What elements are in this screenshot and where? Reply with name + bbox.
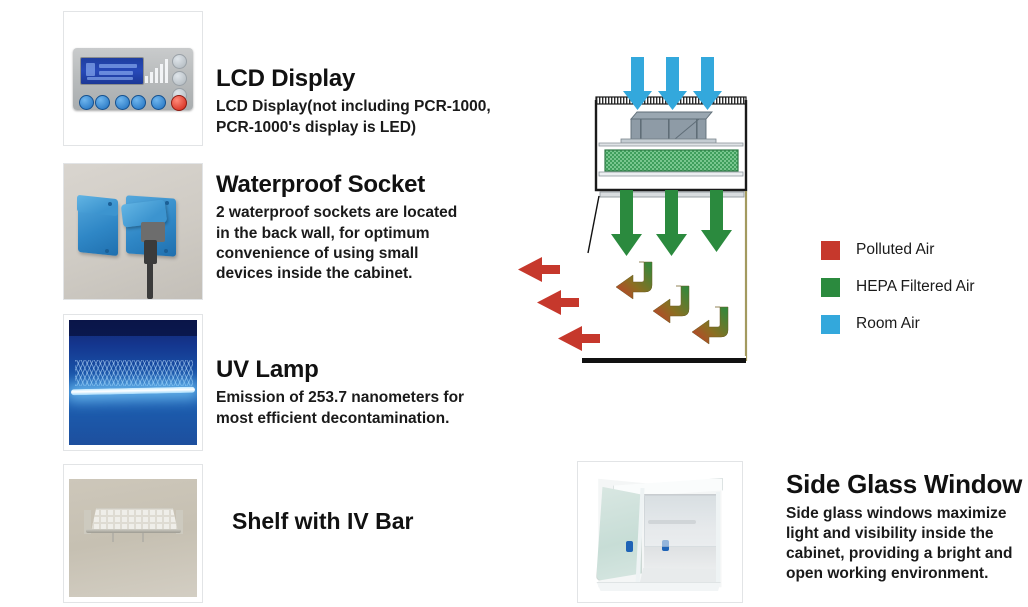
lcd-control-panel-photo [64,12,202,145]
hepa-downflow-arrows [611,190,732,256]
side-glass-window-feature-text: Side Glass Window Side glass windows max… [786,471,1026,584]
room-air-swatch-icon [821,315,840,334]
lcd-display-title: LCD Display [216,66,516,91]
side-glass-window-body: Side glass windows maximize light and vi… [786,504,1026,585]
uv-tube [71,387,195,396]
contaminated-return-arrows [616,262,728,344]
lcd-button-up-arrow[interactable] [115,95,130,110]
waterproof-socket-body-line-2: in the back wall, for optimum [216,224,516,244]
polluted-air-swatch-icon [821,241,840,260]
plenum-divider-lower [599,172,743,176]
lcd-display-body-line-1: LCD Display(not including PCR-1000, [216,97,516,117]
waterproof-socket-body-line-1: 2 waterproof sockets are located [216,203,516,223]
lcd-display-body: LCD Display(not including PCR-1000, PCR-… [216,97,516,137]
lcd-button-down-arrow[interactable] [131,95,146,110]
waterproof-socket-photo [64,164,202,299]
side-glass-window-panel [596,485,642,581]
front-sash-glass [644,495,720,547]
lcd-button-power[interactable] [171,95,187,111]
waterproof-socket-body: 2 waterproof sockets are located in the … [216,203,516,284]
waterproof-socket-feature-text: Waterproof Socket 2 waterproof sockets a… [216,172,516,284]
uv-lamp-photo [64,315,202,450]
lcd-button-up-right[interactable] [172,54,187,69]
side-glass-window-body-line-3: cabinet, providing a bright and [786,544,1026,564]
side-glass-window-title: Side Glass Window [786,471,1026,499]
side-glass-window-body-line-2: light and visibility inside the [786,524,1026,544]
work-surface [582,358,746,363]
legend-item-hepa-filtered-air: HEPA Filtered Air [821,272,975,302]
iv-hook-right [142,533,144,542]
airflow-legend: Polluted Air HEPA Filtered Air Room Air [821,235,975,346]
uv-lamp-photo-frame [63,314,203,451]
signal-strength-icon [145,58,167,83]
side-glass-window-body-line-4: open working environment. [786,564,1026,584]
power-cable-lower [147,262,153,299]
power-plug [141,222,165,242]
uv-lamp-body-line-2: most efficient decontamination. [216,409,516,429]
blower-motor [621,112,716,143]
waterproof-socket-body-line-4: devices inside the cabinet. [216,264,516,284]
lcd-button-mid-right[interactable] [172,71,187,86]
legend-label-hepa-filtered-air: HEPA Filtered Air [856,278,975,296]
uv-lamp-title: UV Lamp [216,357,516,382]
shelf-iv-bar-title: Shelf with IV Bar [232,508,413,535]
legend-item-room-air: Room Air [821,309,975,339]
legend-item-polluted-air: Polluted Air [821,235,975,265]
hepa-filter [605,150,738,171]
biosafety-cabinet-airflow-cross-section [500,50,790,370]
lcd-button-left-arrow[interactable] [79,95,94,110]
legend-label-polluted-air: Polluted Air [856,241,934,259]
work-surface-deck [640,568,720,582]
iv-bar [86,529,181,533]
lcd-display-body-line-2: PCR-1000's display is LED) [216,118,516,138]
waterproof-socket-photo-frame [63,163,203,300]
waterproof-socket-body-line-3: convenience of using small [216,244,516,264]
lcd-button-right-arrow[interactable] [95,95,110,110]
sash-pointer-line [588,196,599,253]
uv-lamp-body: Emission of 253.7 nanometers for most ef… [216,388,516,428]
lcd-display-feature-text: LCD Display LCD Display(not including PC… [216,66,516,138]
iv-hook-left [112,533,114,542]
side-glass-window-body-line-1: Side glass windows maximize [786,504,1026,524]
legend-label-room-air: Room Air [856,315,920,333]
polluted-air-exhaust-arrows [518,257,600,351]
shelf-iv-bar-photo-frame [63,464,203,603]
waterproof-socket-title: Waterproof Socket [216,172,516,197]
shelf-with-iv-bar-photo [64,465,202,602]
lcd-button-menu[interactable] [151,95,166,110]
power-cable [144,240,157,264]
interior-socket-1 [626,541,633,552]
biosafety-cabinet-photo [578,462,742,602]
plenum-divider-upper [599,143,743,146]
hepa-filtered-air-swatch-icon [821,278,840,297]
lcd-screen [80,57,144,85]
lcd-display-photo-frame [63,11,203,146]
side-glass-window-photo-frame [577,461,743,603]
uv-lamp-feature-text: UV Lamp Emission of 253.7 nanometers for… [216,357,516,429]
uv-lamp-body-line-1: Emission of 253.7 nanometers for [216,388,516,408]
shelf-iv-bar-feature-text: Shelf with IV Bar [232,508,413,535]
room-air-arrows [623,57,722,110]
